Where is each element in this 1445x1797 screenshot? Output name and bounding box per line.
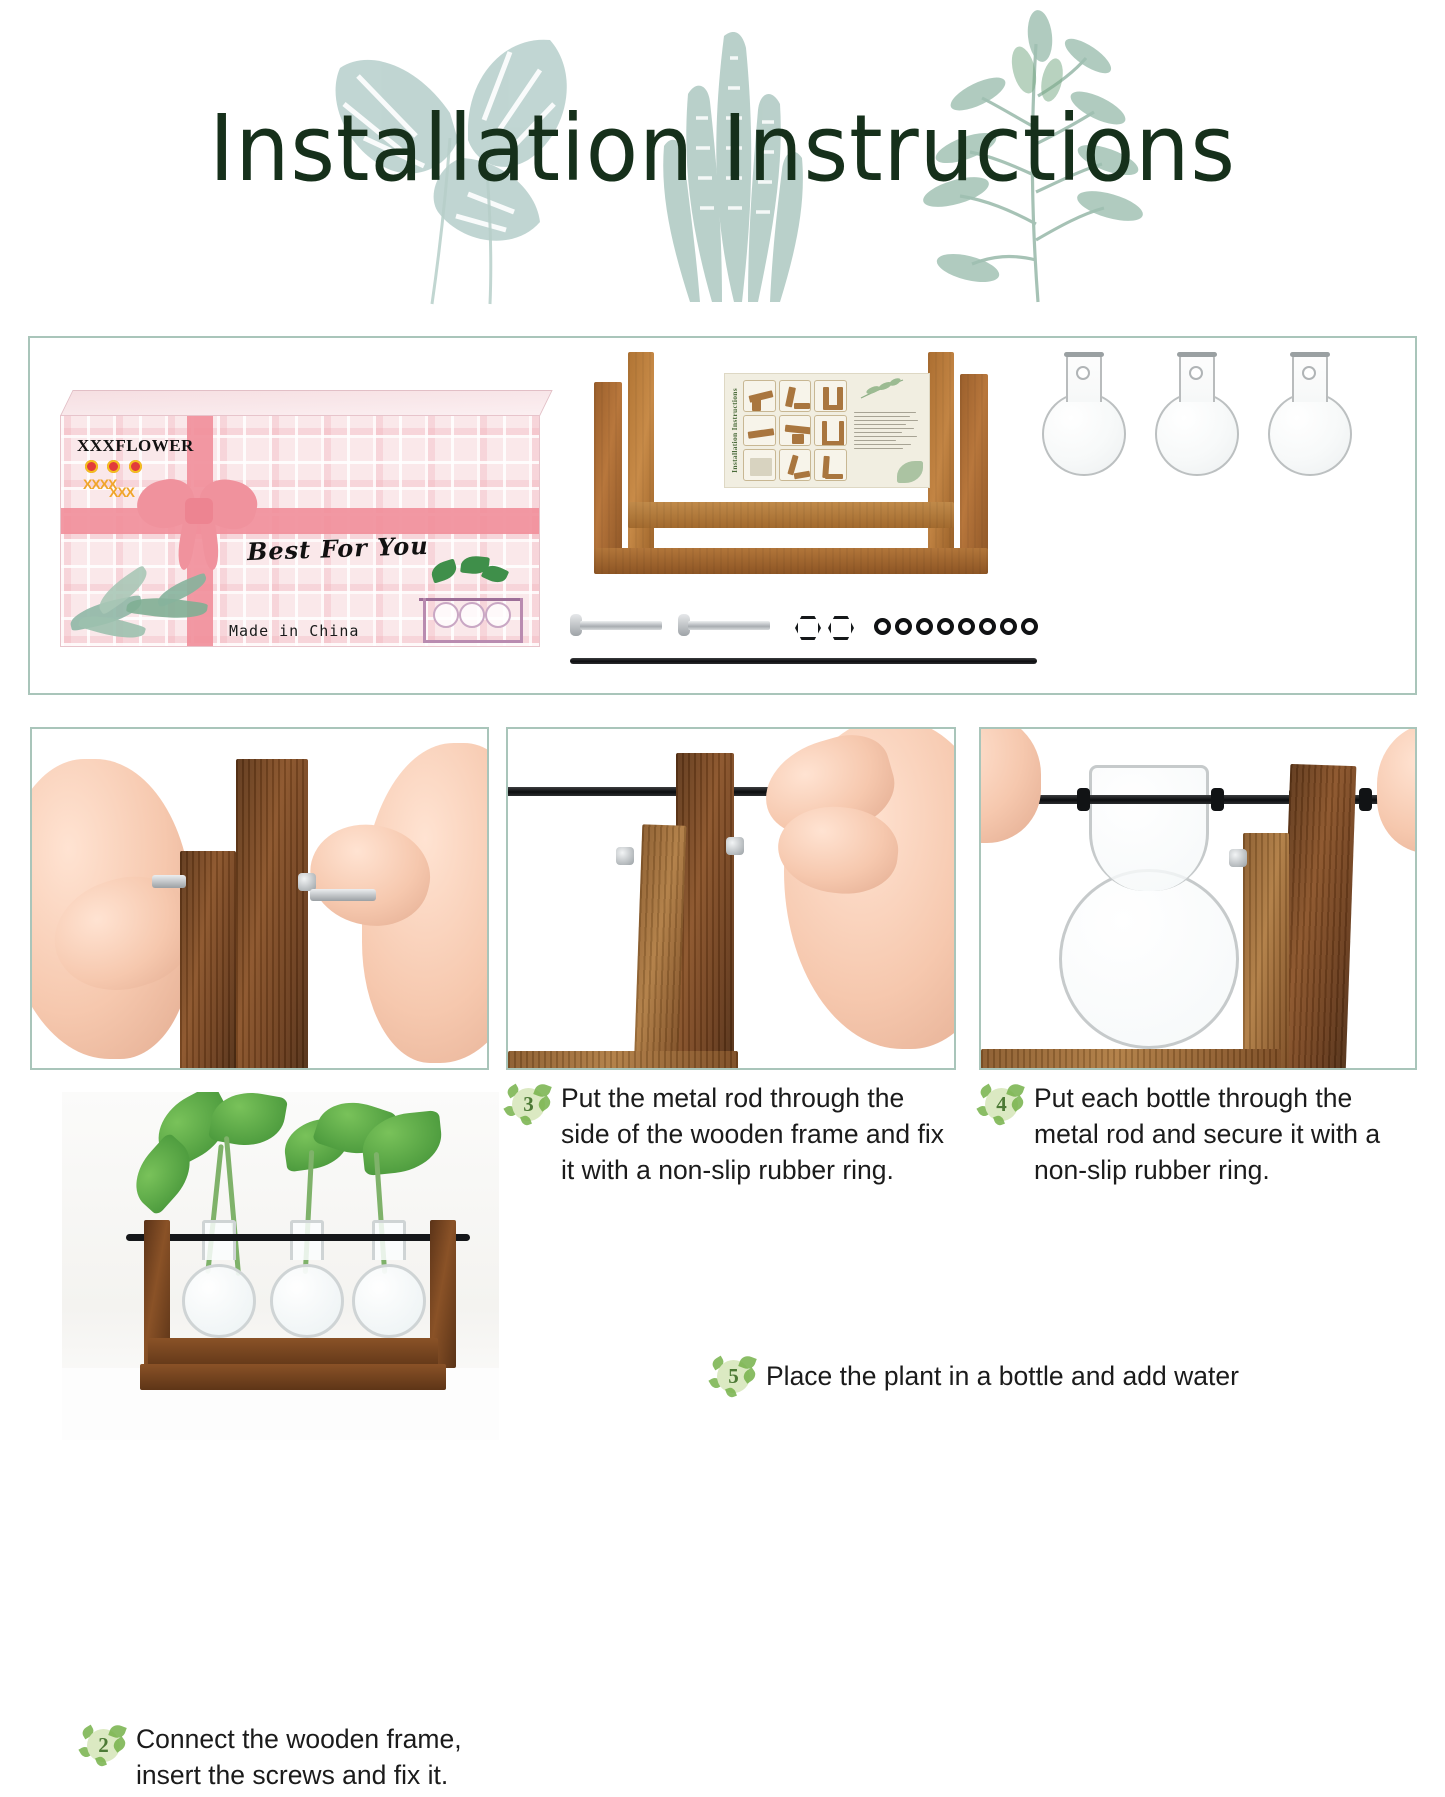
frame-base-bar <box>981 1049 1281 1068</box>
rubber-ring <box>1077 788 1090 811</box>
installation-instructions-infographic: Installation Instructions XXXFLOWER <box>0 0 1445 1445</box>
stand-base-lower <box>140 1364 446 1390</box>
hex-nut-part <box>795 616 821 640</box>
box-leaf-illustration <box>69 566 239 646</box>
rubber-ring-part <box>937 618 954 635</box>
screw-left <box>152 875 186 888</box>
frame-outer-post <box>1280 764 1357 1068</box>
box-product-illustration <box>415 556 525 642</box>
bolt-head-left <box>616 847 634 865</box>
step-4-caption: 4 Put each bottle through the metal rod … <box>978 1080 1408 1188</box>
glass-bottle-bulb <box>1059 869 1239 1049</box>
box-front-face: XXXFLOWER XXXX XXX Best For You Made in … <box>60 415 540 647</box>
hardware-parts-row <box>570 600 1050 670</box>
rubber-ring-part <box>874 618 891 635</box>
frame-upper-base-bar <box>628 502 954 528</box>
header: Installation Instructions <box>0 0 1445 318</box>
step-1-parts-panel: XXXFLOWER XXXX XXX Best For You Made in … <box>28 336 1417 695</box>
ribbon-horizontal <box>61 508 540 534</box>
glass-bottle <box>1040 354 1128 504</box>
step-5-scene <box>62 1092 499 1440</box>
step-3-number: 3 <box>512 1088 545 1121</box>
rubber-ring-part <box>916 618 933 635</box>
step-5-badge: 5 <box>710 1356 756 1400</box>
frame-inner-post <box>1243 833 1289 1068</box>
step-4-scene <box>981 729 1415 1068</box>
step-5-number: 5 <box>717 1360 750 1393</box>
rubber-ring <box>1359 788 1372 811</box>
right-hand <box>1377 729 1415 853</box>
bolt-head-right <box>726 837 744 855</box>
metal-rod <box>126 1234 470 1241</box>
page-title: Installation Instructions <box>51 103 1395 195</box>
bottle-bulb <box>182 1264 256 1338</box>
wood-plank-back <box>236 759 308 1068</box>
glass-bottle <box>1266 354 1354 504</box>
instruction-card: Installation Instructions <box>724 373 930 488</box>
step-3-caption: 3 Put the metal rod through the side of … <box>505 1080 957 1188</box>
box-brand-label: XXXFLOWER <box>77 436 194 456</box>
box-top-face <box>60 390 553 416</box>
box-flower-embroidery: XXXX XXX <box>83 460 155 494</box>
step-2-text: Connect the wooden frame, insert the scr… <box>136 1721 510 1793</box>
instruction-card-sprig-icon <box>859 376 905 402</box>
step-2-number: 2 <box>87 1729 120 1762</box>
frame-inner-post <box>634 824 687 1068</box>
left-hand <box>981 729 1041 843</box>
step-3-photo-panel <box>506 727 956 1070</box>
frame-right-inner-post <box>928 352 954 567</box>
metal-rod-part <box>570 658 1037 664</box>
step-2-scene <box>32 729 487 1068</box>
instruction-card-thumbnails <box>743 380 847 481</box>
screw-right-shaft <box>310 889 376 901</box>
rubber-ring-part <box>1000 618 1017 635</box>
rubber-ring-part <box>895 618 912 635</box>
rubber-ring-part <box>1021 618 1038 635</box>
step-5-caption: 5 Place the plant in a bottle and add wa… <box>710 1352 1350 1400</box>
step-3-scene <box>508 729 954 1068</box>
bolt-head <box>1229 849 1247 867</box>
frame-lower-base-bar <box>594 548 988 574</box>
step-2-caption: 2 Connect the wooden frame, insert the s… <box>74 1717 516 1797</box>
rubber-ring <box>1211 788 1224 811</box>
bottle-bulb <box>270 1264 344 1338</box>
step-2-badge: 2 <box>80 1725 126 1769</box>
frame-base-bar <box>508 1051 738 1068</box>
wood-plank-front <box>180 851 236 1068</box>
frame-left-outer-post <box>594 382 622 570</box>
step-3-badge: 3 <box>505 1084 551 1128</box>
step-5-text: Place the plant in a bottle and add wate… <box>766 1358 1239 1394</box>
rubber-ring-part <box>958 618 975 635</box>
glass-bottle-neck <box>1089 765 1209 891</box>
step-4-text: Put each bottle through the metal rod an… <box>1034 1080 1408 1188</box>
step-2-photo-panel: 2 Connect the wooden frame, insert the s… <box>30 727 489 1070</box>
step-3-text: Put the metal rod through the side of th… <box>561 1080 957 1188</box>
glass-bottle <box>1153 354 1241 504</box>
hex-nut-part <box>828 616 854 640</box>
step-4-number: 4 <box>985 1088 1018 1121</box>
step-4-photo-panel <box>979 727 1417 1070</box>
step-4-badge: 4 <box>978 1084 1024 1128</box>
frame-right-outer-post <box>960 374 988 570</box>
step-5-photo <box>62 1092 499 1440</box>
frame-outer-post <box>676 753 734 1068</box>
instruction-card-title: Installation Instructions <box>730 388 739 473</box>
box-origin-label: Made in China <box>229 622 359 640</box>
glass-bottles-parts <box>1040 354 1370 514</box>
bottle-bulb <box>352 1264 426 1338</box>
product-box-photo: XXXFLOWER XXXX XXX Best For You Made in … <box>60 390 540 648</box>
frame-left-inner-post <box>628 352 654 567</box>
rubber-ring-part <box>979 618 996 635</box>
